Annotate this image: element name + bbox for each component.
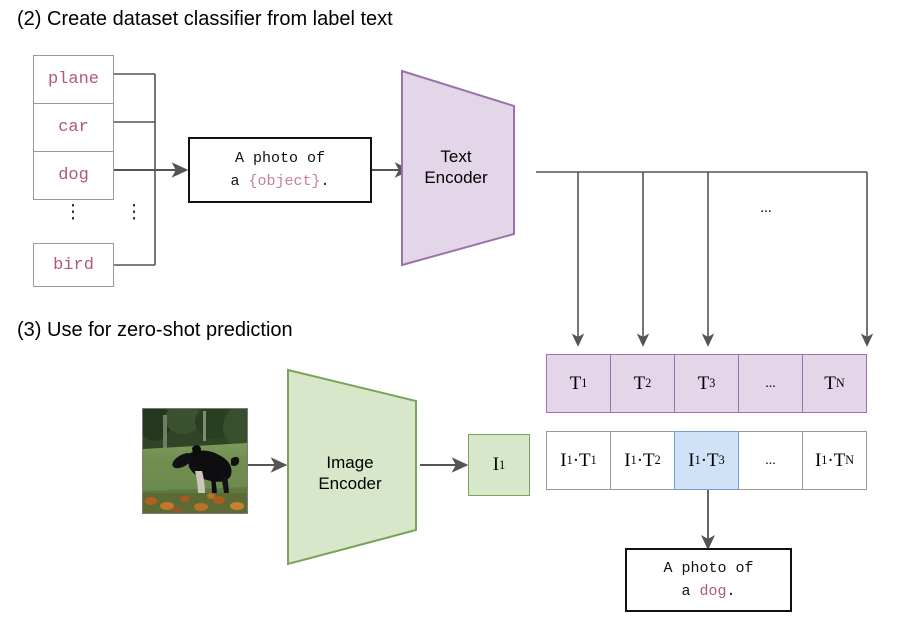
section-2-heading: (2) Create dataset classifier from label…: [17, 8, 393, 31]
image-embedding-sub: 1: [499, 458, 505, 473]
image-embedding-box[interactable]: I1: [468, 434, 530, 496]
similarity-cell-2[interactable]: I1·T2: [610, 431, 675, 490]
vertical-ellipsis-left: ⋮: [62, 203, 84, 222]
text-embedding-cell-n-sub: N: [836, 376, 845, 391]
text-encoder[interactable]: Text Encoder: [396, 66, 540, 270]
text-embedding-cell-ellipsis: ...: [738, 354, 803, 413]
prompt-template-line1: A photo of: [235, 147, 325, 170]
prediction-result-box[interactable]: A photo of a dog.: [625, 548, 792, 612]
prompt-template-suffix: .: [321, 173, 330, 190]
text-embedding-cell-3[interactable]: T3: [674, 354, 739, 413]
prediction-result-suffix: .: [727, 583, 736, 600]
prediction-result-line2: a dog.: [681, 580, 735, 603]
prediction-result-prefix: a: [681, 583, 699, 600]
prediction-result-slot: dog: [699, 583, 726, 600]
text-embedding-row: T1 T2 T3 ... TN: [546, 354, 867, 413]
prompt-template-slot: {object}: [248, 173, 320, 190]
similarity-cell-ellipsis-label: ...: [765, 453, 776, 469]
input-photo[interactable]: [142, 408, 248, 514]
text-encoder-label-line2: Encoder: [394, 167, 518, 188]
text-embedding-cell-2-sub: 2: [645, 376, 651, 391]
prediction-result-line1: A photo of: [663, 557, 753, 580]
similarity-cell-1-tsub: 1: [591, 453, 597, 468]
label-item-bird[interactable]: bird: [33, 243, 114, 287]
vertical-ellipsis-right: ⋮: [123, 203, 145, 222]
similarity-cell-2-t: T: [643, 450, 655, 472]
text-embedding-cell-1[interactable]: T1: [546, 354, 611, 413]
similarity-cell-n-tsub: N: [845, 453, 854, 468]
similarity-cell-3-t: T: [707, 450, 719, 472]
label-item-plane[interactable]: plane: [34, 56, 113, 104]
image-encoder[interactable]: Image Encoder: [284, 368, 424, 568]
prompt-template-box[interactable]: A photo of a {object}.: [188, 137, 372, 203]
similarity-cell-n[interactable]: I1·TN: [802, 431, 867, 490]
prompt-template-prefix: a: [230, 173, 248, 190]
text-embedding-cell-3-sub: 3: [709, 376, 715, 391]
similarity-cell-ellipsis: ...: [738, 431, 803, 490]
input-photo-content: [143, 409, 247, 513]
similarity-cell-1-t: T: [579, 450, 591, 472]
text-embedding-ellipsis-above: ...: [746, 200, 786, 217]
label-item-dog[interactable]: dog: [34, 152, 113, 199]
text-embedding-cell-2-base: T: [634, 373, 646, 395]
similarity-cell-3-highlighted[interactable]: I1·T3: [674, 431, 739, 490]
label-item-car[interactable]: car: [34, 104, 113, 152]
text-embedding-cell-1-base: T: [570, 373, 582, 395]
text-embedding-cell-2[interactable]: T2: [610, 354, 675, 413]
similarity-row: I1·T1 I1·T2 I1·T3 ... I1·TN: [546, 431, 867, 490]
image-encoder-label-line1: Image: [280, 452, 420, 473]
similarity-cell-1[interactable]: I1·T1: [546, 431, 611, 490]
prompt-template-line2: a {object}.: [230, 170, 329, 193]
section-3-heading: (3) Use for zero-shot prediction: [17, 319, 293, 342]
text-embedding-cell-n-base: T: [824, 373, 836, 395]
text-embedding-cell-n[interactable]: TN: [802, 354, 867, 413]
similarity-cell-n-t: T: [834, 450, 846, 472]
text-embedding-cell-1-sub: 1: [581, 376, 587, 391]
text-encoder-label: Text Encoder: [394, 146, 518, 189]
similarity-cell-3-tsub: 3: [719, 453, 725, 468]
label-stack: plane car dog: [33, 55, 114, 200]
text-embedding-cell-ellipsis-label: ...: [765, 376, 776, 392]
text-embedding-cell-3-base: T: [698, 373, 710, 395]
image-encoder-label-line2: Encoder: [280, 473, 420, 494]
image-encoder-label: Image Encoder: [280, 452, 420, 495]
text-encoder-label-line1: Text: [394, 146, 518, 167]
similarity-cell-2-tsub: 2: [655, 453, 661, 468]
